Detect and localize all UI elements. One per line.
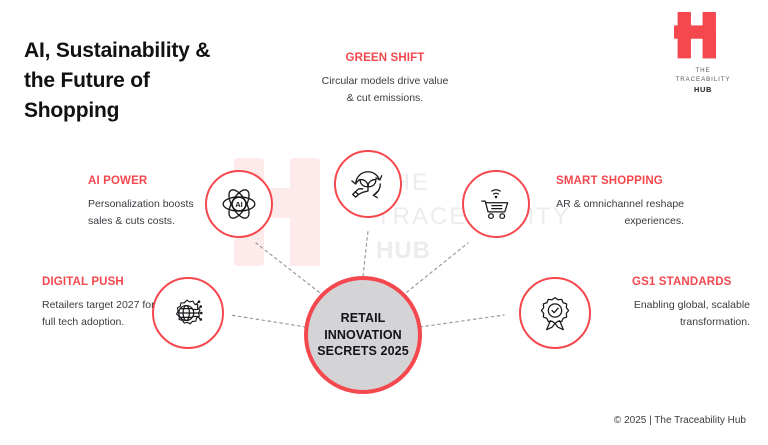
page-title: AI, Sustainability &the Future ofShoppin… — [24, 36, 284, 125]
node-digital-push[interactable] — [152, 277, 224, 349]
smart-shopping-cart-wifi-icon — [476, 184, 516, 224]
connector-center-to-green — [363, 231, 368, 276]
block-green-shift-body: Circular models drive value & cut emissi… — [318, 73, 452, 107]
brand-line-1: THE — [660, 67, 746, 76]
block-smart-shopping-body: AR & omnichannel reshape experiences. — [556, 196, 684, 230]
brand-logo: THE TRACEABILITY HUB — [660, 12, 746, 96]
block-gs1-standards-title: GS1 STANDARDS — [632, 276, 750, 288]
brand-line-2: TRACEABILITY — [660, 76, 746, 85]
block-gs1-standards: GS1 STANDARDS Enabling global, scalable … — [632, 276, 750, 331]
connector-center-to-digital — [230, 315, 306, 327]
center-hub-node[interactable]: RETAILINNOVATIONSECRETS 2025 — [304, 276, 422, 394]
block-digital-push: DIGITAL PUSH Retailers target 2027 for f… — [42, 276, 162, 331]
block-ai-power: AI POWER Personalization boosts sales & … — [88, 175, 208, 230]
block-gs1-standards-body: Enabling global, scalable transformation… — [632, 297, 750, 331]
brand-wordmark: THE TRACEABILITY HUB — [660, 67, 746, 96]
node-smart-shopping[interactable] — [462, 170, 530, 238]
node-ai-power[interactable]: AI — [205, 170, 273, 238]
connector-center-to-smart — [402, 243, 468, 296]
footer-copyright: © 2025 | The Traceability Hub — [614, 415, 746, 426]
block-digital-push-title: DIGITAL PUSH — [42, 276, 162, 288]
block-smart-shopping: SMART SHOPPING AR & omnichannel reshape … — [556, 175, 684, 230]
block-smart-shopping-title: SMART SHOPPING — [556, 175, 684, 187]
block-ai-power-title: AI POWER — [88, 175, 208, 187]
gear-globe-circuit-icon — [167, 292, 209, 334]
svg-text:AI: AI — [235, 200, 243, 209]
infographic-canvas: THE TRACEABILITY HUB AI, Sustainability … — [0, 0, 768, 445]
block-green-shift-title: GREEN SHIFT — [318, 52, 452, 64]
watermark-line-3: HUB — [376, 237, 431, 264]
certified-badge-ribbon-icon — [535, 293, 575, 333]
brand-h-logo-icon — [660, 12, 746, 62]
block-green-shift: GREEN SHIFT Circular models drive value … — [318, 52, 452, 107]
connector-center-to-gs1 — [420, 315, 504, 327]
center-hub-label: RETAILINNOVATIONSECRETS 2025 — [317, 310, 409, 360]
block-digital-push-body: Retailers target 2027 for full tech adop… — [42, 297, 162, 331]
block-ai-power-body: Personalization boosts sales & cuts cost… — [88, 196, 208, 230]
node-green-shift[interactable] — [334, 150, 402, 218]
brand-line-3: HUB — [660, 85, 746, 96]
connector-center-to-ai — [256, 243, 324, 296]
hand-holding-plant-recycle-icon — [347, 163, 389, 205]
node-gs1-standards[interactable] — [519, 277, 591, 349]
ai-atom-icon: AI — [219, 184, 259, 224]
